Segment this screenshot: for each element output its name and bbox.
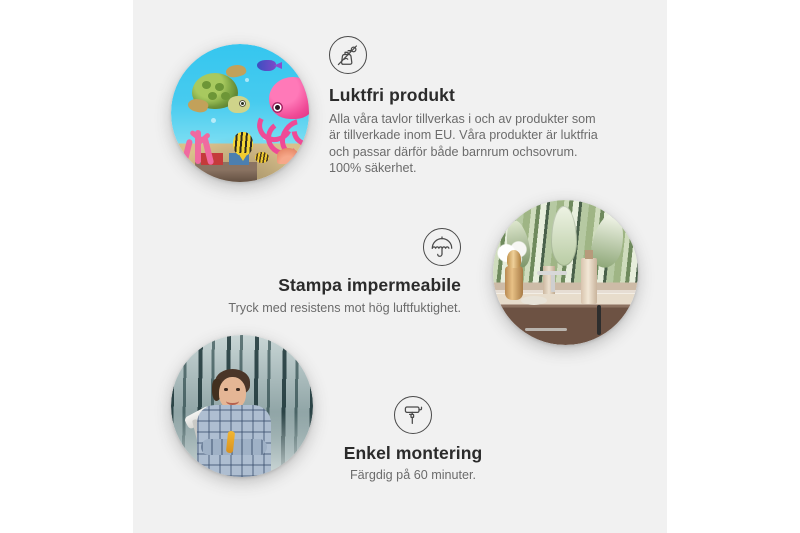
eye [236,388,240,391]
feature-title: Enkel montering [293,443,533,464]
faucet [551,274,555,292]
soap-dish [521,296,547,305]
bubble-icon [211,118,216,123]
product-image-bathroom-botanical-wallpaper [493,200,638,345]
feature-easy-mounting: Enkel montering Färgdig på 60 minuter. [293,396,533,483]
no-odor-spray-bottle-icon [329,36,367,74]
feature-odor-free: Luktfri produkt Alla våra tavlor tillver… [329,36,619,177]
pink-coral [183,130,217,166]
bathroom-photo [493,200,638,345]
bubble-icon [245,78,249,82]
feature-title: Stampa impermeabile [173,275,461,296]
cabinet-door-handle [597,305,601,335]
feature-title: Luktfri produkt [329,85,619,106]
forest-wallpaper-photo [171,335,313,477]
content-panel: Luktfri produkt Alla våra tavlor tillver… [133,0,667,533]
turtle-head [228,96,250,113]
paint-roller-icon [394,396,432,434]
eye [224,388,228,391]
product-image-sea-life-mural [171,44,309,182]
feature-description: Tryck med resistens mot hög luftfuktighe… [173,300,461,316]
product-image-woman-with-paint-roller-forest [171,335,313,477]
infographic-canvas: Luktfri produkt Alla våra tavlor tillver… [0,0,800,533]
toiletry-bottle [581,258,597,304]
yellow-striped-fish [233,132,253,156]
octopus-eye [272,102,283,113]
feature-waterproof-print: Stampa impermeabile Tryck med resistens … [173,228,461,316]
gold-vase [505,266,523,300]
smile [226,397,239,405]
feature-description: Alla våra tavlor tillverkas i och av pro… [329,111,602,177]
small-yellow-fish [255,152,269,163]
umbrella-icon [423,228,461,266]
seashell-icon [277,148,299,164]
sea-life-illustration [171,44,309,182]
feature-description: Färgdig på 60 minuter. [293,467,533,483]
drawer-pull [525,328,567,331]
leaf-motif [551,206,577,266]
blue-fish-icon [257,60,276,71]
